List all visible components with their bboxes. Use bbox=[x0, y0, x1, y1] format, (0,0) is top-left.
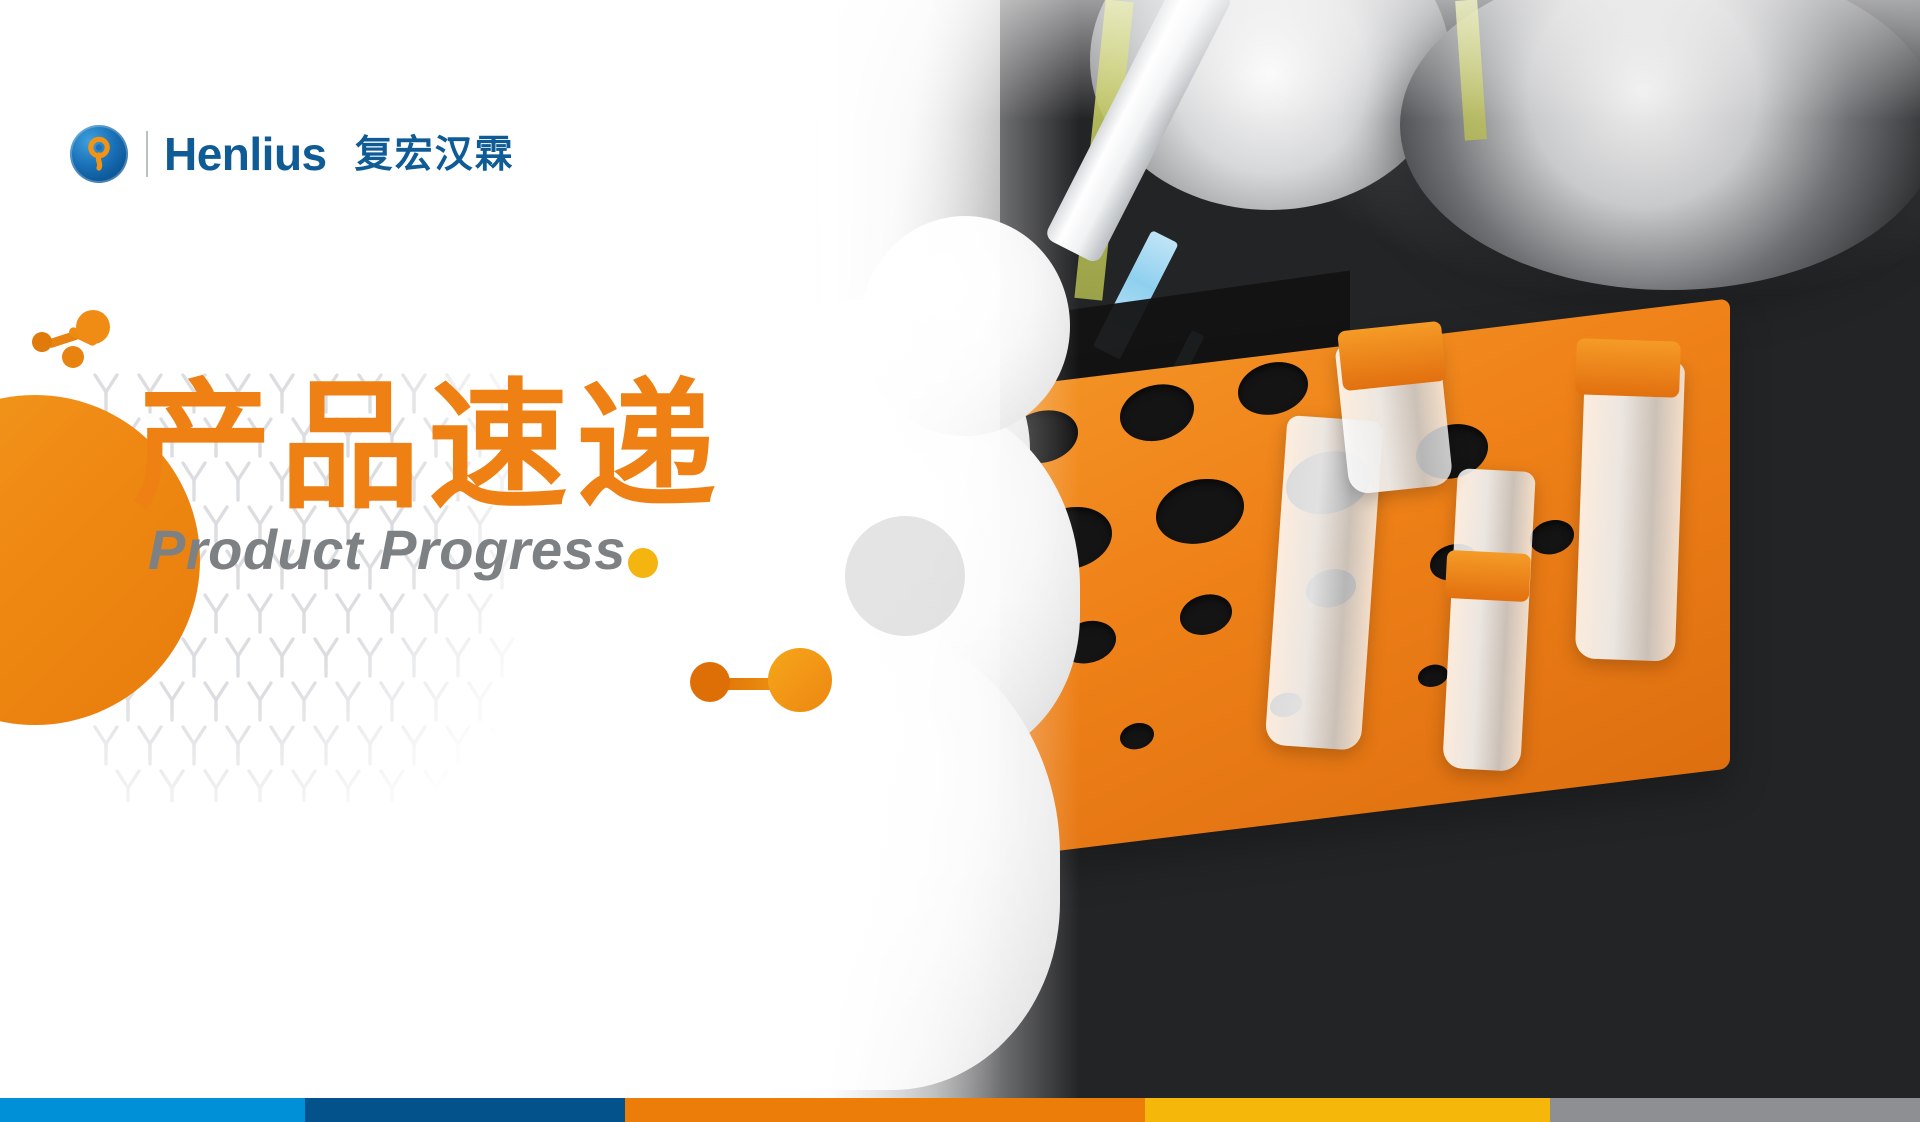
logo-name-cn: 复宏汉霖 bbox=[355, 135, 515, 173]
bar-segment-gray bbox=[1550, 1098, 1920, 1122]
translucent-gray-circle-decor bbox=[845, 516, 965, 636]
henlius-logo[interactable]: Henlius 复宏汉霖 bbox=[70, 118, 515, 190]
bar-segment-dark-blue bbox=[305, 1098, 625, 1122]
photo-sample-tube-2 bbox=[1442, 468, 1536, 772]
slide-canvas: Henlius 复宏汉霖 产品速递 Product Progress bbox=[0, 0, 1920, 1122]
logo-name-en: Henlius bbox=[164, 131, 327, 177]
logo-divider bbox=[146, 131, 148, 177]
bar-segment-orange bbox=[625, 1098, 1145, 1122]
bottom-color-bar bbox=[0, 1098, 1920, 1122]
photo-sample-tube-4 bbox=[1575, 358, 1685, 661]
page-subtitle-en: Product Progress bbox=[148, 522, 626, 578]
molecule-dumbbell-icon bbox=[690, 648, 840, 710]
photo-tube-cap-2 bbox=[1575, 338, 1681, 398]
molecule-cluster-icon bbox=[28, 306, 118, 366]
henlius-emblem-icon bbox=[70, 125, 128, 183]
bar-segment-yellow bbox=[1145, 1098, 1550, 1122]
photo-tube-cap-3 bbox=[1445, 550, 1531, 602]
yellow-dot-decor bbox=[628, 548, 658, 578]
bar-segment-light-blue bbox=[0, 1098, 305, 1122]
photo-tube-cap-1 bbox=[1337, 321, 1447, 392]
page-title-cn: 产品速递 bbox=[132, 378, 724, 518]
